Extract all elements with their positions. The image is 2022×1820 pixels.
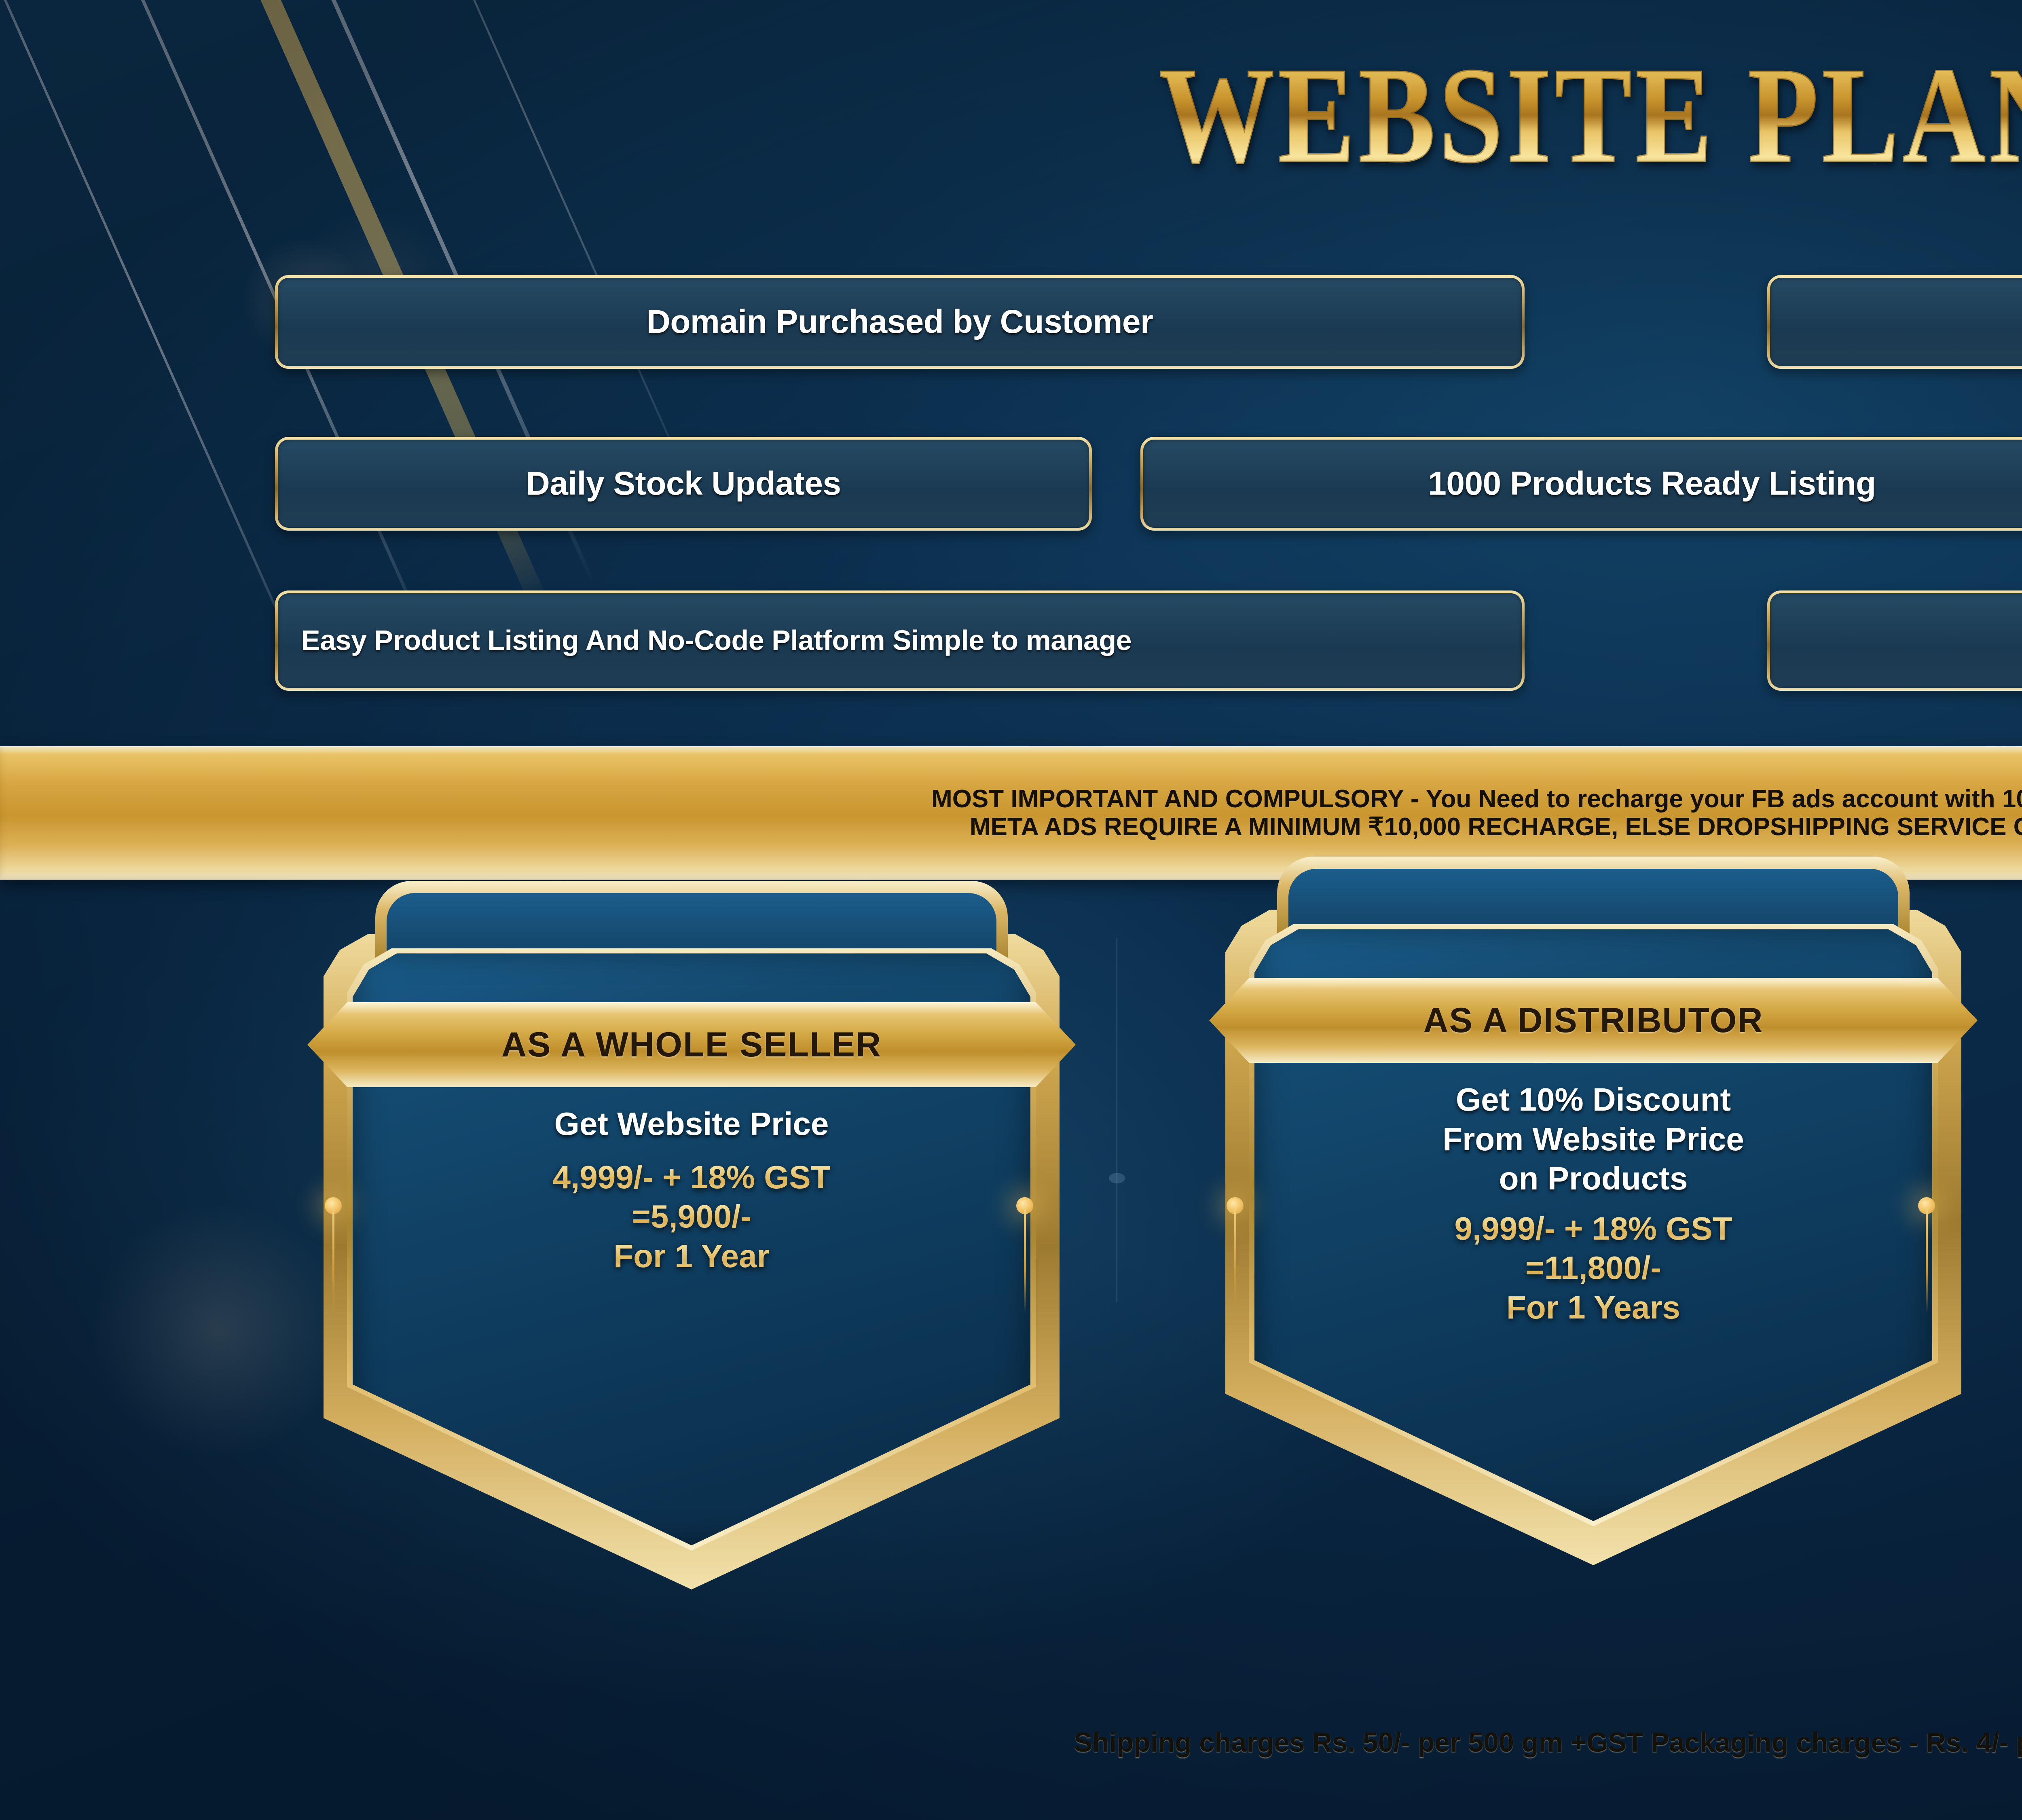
feature-label: 1000 Products Ready Listing (1428, 467, 1876, 501)
plan-white-line: on Products (1209, 1159, 1978, 1198)
plan-body: Get 10% Discount From Website Price on P… (1209, 1080, 1978, 1327)
plan-white-line: From Website Price (1209, 1120, 1978, 1159)
plan-white-line: Get Website Price (307, 1104, 1076, 1144)
feature-pill-domain-purchased[interactable]: Domain Purchased by Customer (275, 275, 1525, 369)
notice-line-1-rest: You Need to recharge your FB ads account… (1426, 785, 2022, 813)
feature-label: Easy Product Listing And No-Code Platfor… (301, 624, 1132, 656)
feature-pill-order-management[interactable]: Order Management Panel (1767, 275, 2022, 369)
plan-ribbon-label: AS A WHOLE SELLER (501, 1025, 882, 1065)
feature-label: Daily Stock Updates (526, 467, 841, 501)
plan-ribbon: AS A DISTRIBUTOR (1209, 978, 1978, 1063)
page-title: WEBSITE PLAN (1159, 47, 2022, 184)
plan-ribbon: AS A WHOLE SELLER (307, 1002, 1076, 1087)
plan-gold-line: For 1 Years (1209, 1288, 1978, 1327)
feature-pill-google-ads-meta-pixel[interactable]: Google Ads & Meta Pixel Integration (1767, 590, 2022, 691)
footer-label: Shipping charges Rs. 50/- per 500 gm +GS… (1074, 1727, 2022, 1758)
plan-gold-line: 4,999/- + 18% GST (307, 1158, 1076, 1197)
feature-pill-products-ready-listing[interactable]: 1000 Products Ready Listing (1140, 437, 2022, 531)
feature-pill-daily-stock-updates[interactable]: Daily Stock Updates (275, 437, 1092, 531)
feature-pill-easy-product-listing[interactable]: Easy Product Listing And No-Code Platfor… (275, 590, 1525, 691)
notice-line-1-bold: MOST IMPORTANT AND COMPULSORY - (931, 785, 1426, 813)
footer-banner: Shipping charges Rs. 50/- per 500 gm +GS… (243, 1693, 2022, 1792)
notice-line-2: META ADS REQUIRE A MINIMUM ₹10,000 RECHA… (970, 813, 2022, 841)
page-title-container: WEBSITE PLAN (0, 47, 2022, 184)
plan-body: Get Website Price 4,999/- + 18% GST =5,9… (307, 1104, 1076, 1276)
feature-label: Domain Purchased by Customer (647, 305, 1153, 339)
plan-gold-line: 9,999/- + 18% GST (1209, 1209, 1978, 1249)
plan-gold-line: =5,900/- (307, 1197, 1076, 1236)
plan-gold-line: For 1 Year (307, 1236, 1076, 1276)
plan-ribbon-label: AS A DISTRIBUTOR (1423, 1001, 1763, 1041)
notice-line-1: MOST IMPORTANT AND COMPULSORY - You Need… (931, 785, 2022, 813)
plan-gold-line: =11,800/- (1209, 1248, 1978, 1288)
plan-white-line: Get 10% Discount (1209, 1080, 1978, 1120)
